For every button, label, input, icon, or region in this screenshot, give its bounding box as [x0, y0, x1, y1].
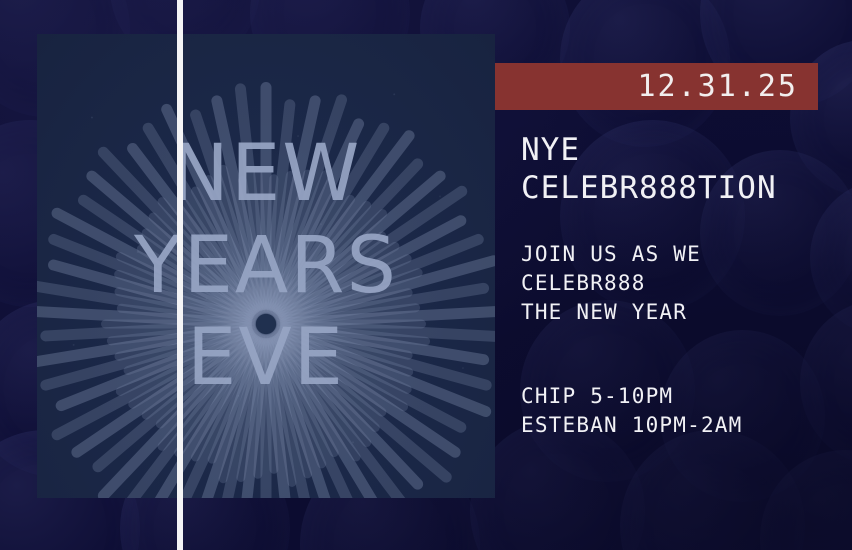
vertical-divider [177, 0, 183, 550]
artwork-word-years: YEARS [134, 222, 398, 310]
artwork-word-eve: EVE [187, 314, 345, 402]
artwork-word-new: NEW [171, 130, 362, 218]
dj-lineup: CHIP 5-10PM ESTEBAN 10PM-2AM [521, 382, 841, 441]
artwork-title: NEW YEARS EVE [37, 34, 495, 498]
lineup-item: CHIP 5-10PM [521, 382, 841, 411]
event-blurb: JOIN US AS WE CELEBR888 THE NEW YEAR [521, 240, 841, 327]
event-date: 12.31.25 [638, 72, 799, 102]
date-banner: 12.31.25 [495, 63, 818, 110]
copy-column: NYE CELEBR888TION JOIN US AS WE CELEBR88… [521, 132, 841, 440]
flyer-canvas: NEW YEARS EVE 12.31.25 NYE CELEBR888TION… [0, 0, 852, 550]
lineup-item: ESTEBAN 10PM-2AM [521, 411, 841, 440]
event-headline: NYE CELEBR888TION [521, 132, 841, 208]
artwork-panel: NEW YEARS EVE [37, 34, 495, 498]
